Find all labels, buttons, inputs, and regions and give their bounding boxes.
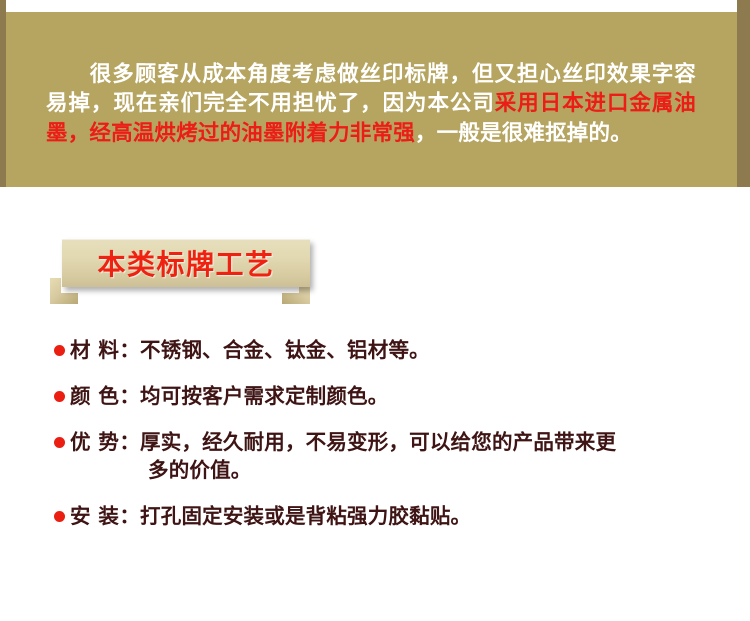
spec-separator: ： <box>119 384 140 408</box>
spec-value: 打孔固定安装或是背粘强力胶黏贴。 <box>140 504 471 528</box>
spec-text-material: 材 料：不锈钢、合金、钛金、铝材等。 <box>55 336 695 364</box>
spec-separator: ： <box>119 338 140 362</box>
spec-label: 优 势 <box>70 430 119 454</box>
spec-value-continuation: 多的价值。 <box>70 456 695 484</box>
list-item: 颜 色：均可按客户需求定制颜色。 <box>0 382 750 410</box>
spec-label: 安 装 <box>70 504 119 528</box>
spec-text-installation: 安 装：打孔固定安装或是背粘强力胶黏贴。 <box>55 502 695 530</box>
spec-label: 材 料 <box>70 338 119 362</box>
spec-list: 材 料：不锈钢、合金、钛金、铝材等。 颜 色：均可按客户需求定制颜色。 优 势：… <box>0 336 750 548</box>
spec-value: 均可按客户需求定制颜色。 <box>140 384 388 408</box>
banner-right-edge-strip <box>737 0 750 187</box>
bullet-dot-icon <box>54 391 65 402</box>
section-title-text: 本类标牌工艺 <box>62 239 310 287</box>
spec-separator: ： <box>119 430 140 454</box>
spec-text-color: 颜 色：均可按客户需求定制颜色。 <box>55 382 695 410</box>
spec-separator: ： <box>119 504 140 528</box>
intro-segment-plain-2: ，一般是很难抠掉的。 <box>415 121 632 146</box>
bullet-dot-icon <box>54 511 65 522</box>
spec-label: 颜 色 <box>70 384 119 408</box>
bullet-dot-icon <box>54 437 65 448</box>
section-title-block: 本类标牌工艺 <box>0 232 750 304</box>
intro-banner: 很多顾客从成本角度考虑做丝印标牌，但又担心丝印效果字容易掉，现在亲们完全不用担忧… <box>0 0 750 187</box>
list-item: 安 装：打孔固定安装或是背粘强力胶黏贴。 <box>0 502 750 530</box>
ribbon-plate: 本类标牌工艺 <box>62 239 310 287</box>
spec-text-advantage: 优 势：厚实，经久耐用，不易变形，可以给您的产品带来更多的价值。 <box>55 428 695 484</box>
intro-paragraph: 很多顾客从成本角度考虑做丝印标牌，但又担心丝印效果字容易掉，现在亲们完全不用担忧… <box>46 60 696 149</box>
spec-value: 不锈钢、合金、钛金、铝材等。 <box>140 338 430 362</box>
list-item: 材 料：不锈钢、合金、钛金、铝材等。 <box>0 336 750 364</box>
bullet-dot-icon <box>54 345 65 356</box>
spec-value: 厚实，经久耐用，不易变形，可以给您的产品带来更 <box>140 430 616 454</box>
list-item: 优 势：厚实，经久耐用，不易变形，可以给您的产品带来更多的价值。 <box>0 428 750 484</box>
